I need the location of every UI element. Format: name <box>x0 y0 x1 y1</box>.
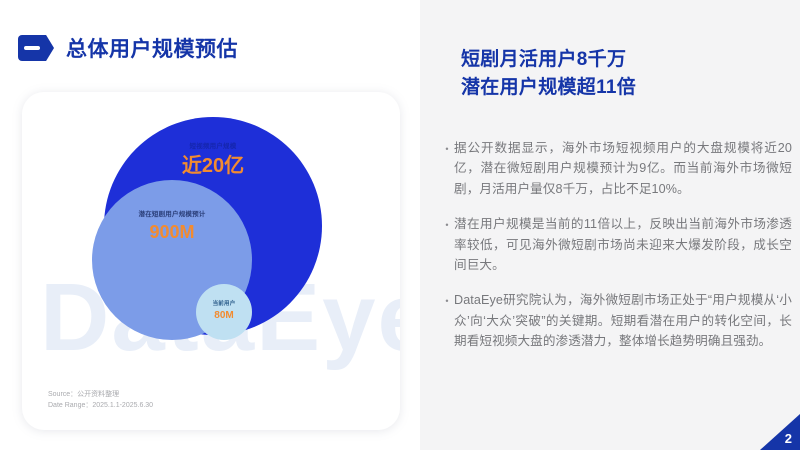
list-item: • 潜在用户规模是当前的11倍以上，反映出当前海外市场渗透率较低，可见海外微短剧… <box>440 214 792 275</box>
bullet-dot-icon: • <box>440 290 454 306</box>
venn-diagram: 短视频用户规模 近20亿 潜在短剧用户规模预计 900M 当前用户 80M <box>22 92 400 382</box>
title-badge-icon <box>18 35 54 61</box>
venn-middle-value: 900M <box>149 223 194 241</box>
bullet-list: • 据公开数据显示，海外市场短视频用户的大盘规模将近20亿，潜在微短剧用户规模预… <box>440 138 792 367</box>
bullet-text: 据公开数据显示，海外市场短视频用户的大盘规模将近20亿，潜在微短剧用户规模预计为… <box>454 138 792 199</box>
slide-root: 总体用户规模预估 DataEye 短视频用户规模 近20亿 潜在短剧用户规模预计… <box>0 0 800 450</box>
page-corner-decoration <box>760 414 800 450</box>
badge-dash-icon <box>24 46 40 50</box>
right-panel: 短剧月活用户8千万 潜在用户规模超11倍 • 据公开数据显示，海外市场短视频用户… <box>420 0 800 450</box>
source-line: Source：公开资料整理 <box>48 389 153 401</box>
chart-card: DataEye 短视频用户规模 近20亿 潜在短剧用户规模预计 900M 当前用… <box>22 92 400 430</box>
bullet-text: 潜在用户规模是当前的11倍以上，反映出当前海外市场渗透率较低，可见海外微短剧市场… <box>454 214 792 275</box>
venn-circle-inner: 当前用户 80M <box>196 284 252 340</box>
list-item: • DataEye研究院认为，海外微短剧市场正处于“用户规模从‘小众’向‘大众’… <box>440 290 792 351</box>
bullet-dot-icon: • <box>440 214 454 230</box>
venn-outer-value: 近20亿 <box>182 156 244 176</box>
bullet-dot-icon: • <box>440 138 454 154</box>
date-range-line: Date Range：2025.1.1-2025.6.30 <box>48 400 153 412</box>
left-panel: 总体用户规模预估 DataEye 短视频用户规模 近20亿 潜在短剧用户规模预计… <box>0 0 420 450</box>
bullet-text: DataEye研究院认为，海外微短剧市场正处于“用户规模从‘小众’向‘大众’突破… <box>454 290 792 351</box>
source-block: Source：公开资料整理 Date Range：2025.1.1-2025.6… <box>48 389 153 412</box>
right-heading-line-2: 潜在用户规模超11倍 <box>461 74 636 102</box>
list-item: • 据公开数据显示，海外市场短视频用户的大盘规模将近20亿，潜在微短剧用户规模预… <box>440 138 792 199</box>
page-number: 2 <box>785 431 792 446</box>
panel-title-row: 总体用户规模预估 <box>18 33 238 63</box>
venn-inner-label: 当前用户 <box>213 299 236 307</box>
venn-inner-value: 80M <box>214 311 233 321</box>
page-title: 总体用户规模预估 <box>66 33 238 63</box>
right-heading-line-1: 短剧月活用户8千万 <box>461 46 636 74</box>
venn-outer-label: 短视频用户规模 <box>190 140 237 150</box>
venn-middle-label: 潜在短剧用户规模预计 <box>139 208 206 218</box>
right-heading: 短剧月活用户8千万 潜在用户规模超11倍 <box>461 46 636 101</box>
